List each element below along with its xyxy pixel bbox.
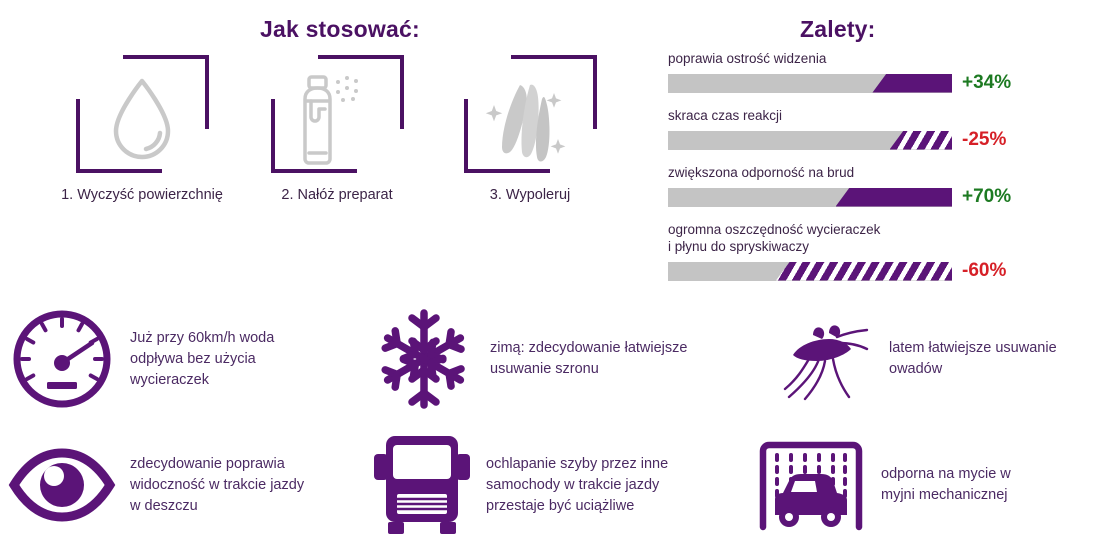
feature-item: zimą: zdecydowanie łatwiejsze usuwanie s… — [372, 304, 762, 414]
bar-fill — [776, 262, 952, 281]
step-label-2: 2. Nałóż preparat — [237, 187, 437, 203]
feature-item: zdecydowanie poprawia widoczność w trakc… — [8, 430, 368, 540]
bar-label: poprawia ostrość widzenia — [668, 50, 1088, 67]
step-label-3: 3. Wypoleruj — [430, 187, 630, 203]
step-item-1: 1. Wyczyść powierzchnię — [42, 55, 242, 203]
bar-value: +70% — [962, 186, 1011, 208]
spray-can-icon — [265, 55, 410, 175]
infographic-page: Jak stosować: Zalety: 1. Wyczyść powierz… — [0, 0, 1098, 550]
feature-text: ochlapanie szyby przez inne samochody w … — [486, 454, 668, 517]
bar-label: ogromna oszczędność wycieraczek i płynu … — [668, 221, 1088, 255]
feature-text: latem łatwiejsze usuwanie owadów — [889, 338, 1057, 380]
bar-row: skraca czas reakcji -25% — [668, 107, 1088, 151]
bar-row: zwiększona odporność na brud +70% — [668, 164, 1088, 208]
bar-track — [668, 188, 952, 207]
speedometer-icon — [8, 305, 116, 413]
bar-row: ogromna oszczędność wycieraczek i płynu … — [668, 221, 1088, 282]
feature-text: zdecydowanie poprawia widoczność w trakc… — [130, 454, 304, 517]
eye-icon — [8, 445, 116, 525]
bar-label: zwiększona odporność na brud — [668, 164, 1088, 181]
bar-track — [668, 262, 952, 281]
bar-track — [668, 74, 952, 93]
feature-item: latem łatwiejsze usuwanie owadów — [775, 304, 1095, 414]
feature-item: Już przy 60km/h woda odpływa bez użycia … — [8, 304, 368, 414]
page-title-advantages: Zalety: — [800, 16, 876, 43]
step-frame-2 — [265, 55, 410, 175]
feature-text: Już przy 60km/h woda odpływa bez użycia … — [130, 328, 274, 391]
feature-item: ochlapanie szyby przez inne samochody w … — [372, 430, 762, 540]
mosquito-icon — [775, 311, 875, 407]
bar-fill — [872, 74, 952, 93]
step-item-3: 3. Wypoleruj — [430, 55, 630, 203]
truck-icon — [372, 432, 472, 538]
bar-row: poprawia ostrość widzenia +34% — [668, 50, 1088, 94]
advantages-bar-chart: poprawia ostrość widzenia +34% skraca cz… — [668, 50, 1088, 294]
bar-value: +34% — [962, 72, 1011, 94]
bar-fill — [890, 131, 952, 150]
step-label-1: 1. Wyczyść powierzchnię — [42, 187, 242, 203]
step-frame-1 — [70, 55, 215, 175]
feature-text: zimą: zdecydowanie łatwiejsze usuwanie s… — [490, 338, 687, 380]
bar-fill — [836, 188, 952, 207]
page-title-how-to-use: Jak stosować: — [260, 16, 420, 43]
steps-section: 1. Wyczyść powierzchnię — [0, 55, 650, 220]
step-frame-3 — [458, 55, 603, 175]
car-wash-icon — [755, 437, 867, 533]
polish-cloth-icon — [458, 55, 603, 175]
feature-item: odporna na mycie w myjni mechanicznej — [755, 430, 1095, 540]
snowflake-icon — [372, 307, 476, 411]
step-item-2: 2. Nałóż preparat — [237, 55, 437, 203]
bar-value: -60% — [962, 260, 1006, 282]
bar-value: -25% — [962, 129, 1006, 151]
features-section: Już przy 60km/h woda odpływa bez użycia … — [0, 298, 1098, 550]
feature-text: odporna na mycie w myjni mechanicznej — [881, 464, 1011, 506]
bar-track — [668, 131, 952, 150]
water-droplet-icon — [70, 55, 215, 175]
bar-label: skraca czas reakcji — [668, 107, 1088, 124]
